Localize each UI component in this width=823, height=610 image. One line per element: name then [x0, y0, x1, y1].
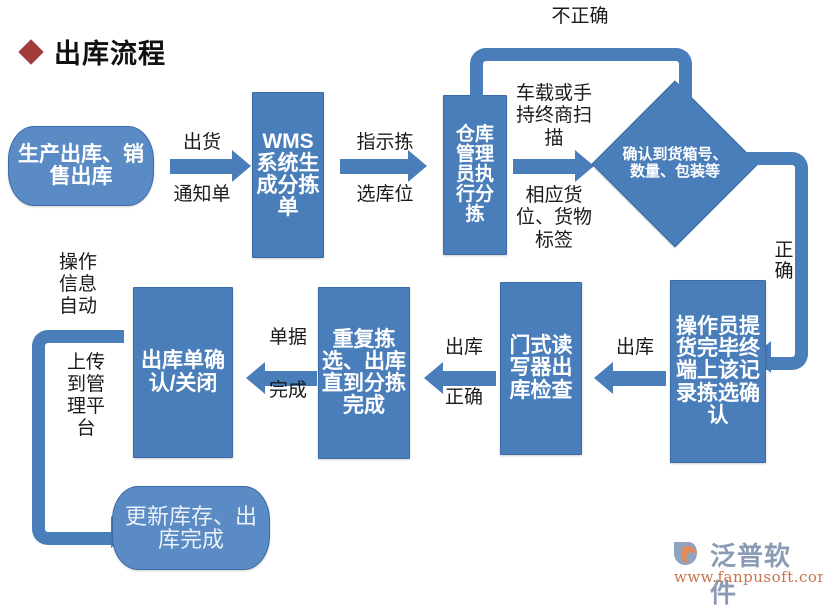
brand-logo: 泛普软件 www.fanpusoft.com	[672, 536, 814, 588]
edge-label-outbound-to-end-bottom: 上传到管理平台	[58, 352, 114, 439]
node-outbound-confirm-label: 出库单确认/关闭	[134, 350, 232, 395]
arrow-start-to-wms-shaft	[170, 159, 232, 174]
edge-label-outbound-to-end-top: 操作信息自动	[50, 252, 106, 318]
node-start[interactable]: 生产出库、销售出库	[8, 126, 154, 206]
edge-label-gate-to-repeat-top: 出库	[424, 337, 504, 358]
arrow-gate-to-repeat-shaft	[443, 371, 496, 386]
arrow-wms-to-warehouse-shaft	[340, 159, 408, 174]
edge-label-start-to-wms-bottom: 通知单	[152, 184, 252, 205]
node-repeat-pick[interactable]: 重复拣选、出库直到分拣完成	[318, 287, 410, 459]
edge-label-warehouse-to-decision-bottom: 相应货位、货物标签	[513, 184, 595, 251]
edge-label-wms-to-warehouse-bottom: 选库位	[340, 184, 430, 205]
arrow-warehouse-to-decision-head	[575, 150, 594, 182]
arrow-operator-to-gate-head	[594, 362, 613, 394]
flowchart-canvas: 出库流程 生产出库、销售出库 出货 通知单 WMS系统生成分拣单 指示拣 选库位…	[0, 0, 823, 594]
page-title: 出库流程	[22, 32, 166, 71]
node-wms[interactable]: WMS系统生成分拣单	[252, 92, 324, 258]
arrow-warehouse-to-decision-shaft	[513, 159, 575, 174]
edge-label-gate-to-repeat-bottom: 正确	[424, 387, 504, 408]
arrow-incorrect-loop-path	[470, 48, 692, 120]
edge-label-repeat-to-outbound-top: 单据	[248, 327, 328, 348]
edge-label-repeat-to-outbound-bottom: 完成	[248, 380, 328, 401]
node-operator-record-label: 操作员提货完毕终端上该记录拣选确认	[671, 316, 765, 427]
logo-url-text: www.fanpusoft.com	[674, 568, 823, 586]
node-operator-record[interactable]: 操作员提货完毕终端上该记录拣选确认	[670, 280, 766, 463]
diamond-bullet-icon	[18, 39, 43, 64]
edge-label-correct: 正确	[772, 240, 796, 283]
node-repeat-pick-label: 重复拣选、出库直到分拣完成	[319, 329, 409, 418]
fanpu-logo-icon	[672, 538, 706, 568]
node-end-label: 更新库存、出库完成	[113, 505, 269, 552]
edge-label-start-to-wms-top: 出货	[162, 132, 242, 153]
node-warehouse-sorting-label: 仓库管理员执行分拣	[444, 125, 506, 226]
node-end[interactable]: 更新库存、出库完成	[112, 486, 270, 570]
node-wms-label: WMS系统生成分拣单	[253, 131, 323, 220]
arrow-wms-to-warehouse-head	[408, 150, 427, 182]
edge-label-operator-to-gate: 出库	[595, 337, 675, 358]
page-title-text: 出库流程	[54, 32, 166, 71]
arrow-operator-to-gate-shaft	[613, 371, 666, 386]
arrow-incorrect-loop-head	[459, 106, 491, 125]
edge-label-incorrect: 不正确	[530, 6, 630, 27]
node-outbound-confirm[interactable]: 出库单确认/关闭	[133, 287, 233, 458]
node-gate-reader[interactable]: 门式读写器出库检查	[500, 282, 582, 455]
node-gate-reader-label: 门式读写器出库检查	[501, 335, 581, 402]
node-start-label: 生产出库、销售出库	[9, 144, 153, 189]
arrow-start-to-wms-head	[232, 150, 251, 182]
edge-label-wms-to-warehouse-top: 指示拣	[340, 132, 430, 153]
